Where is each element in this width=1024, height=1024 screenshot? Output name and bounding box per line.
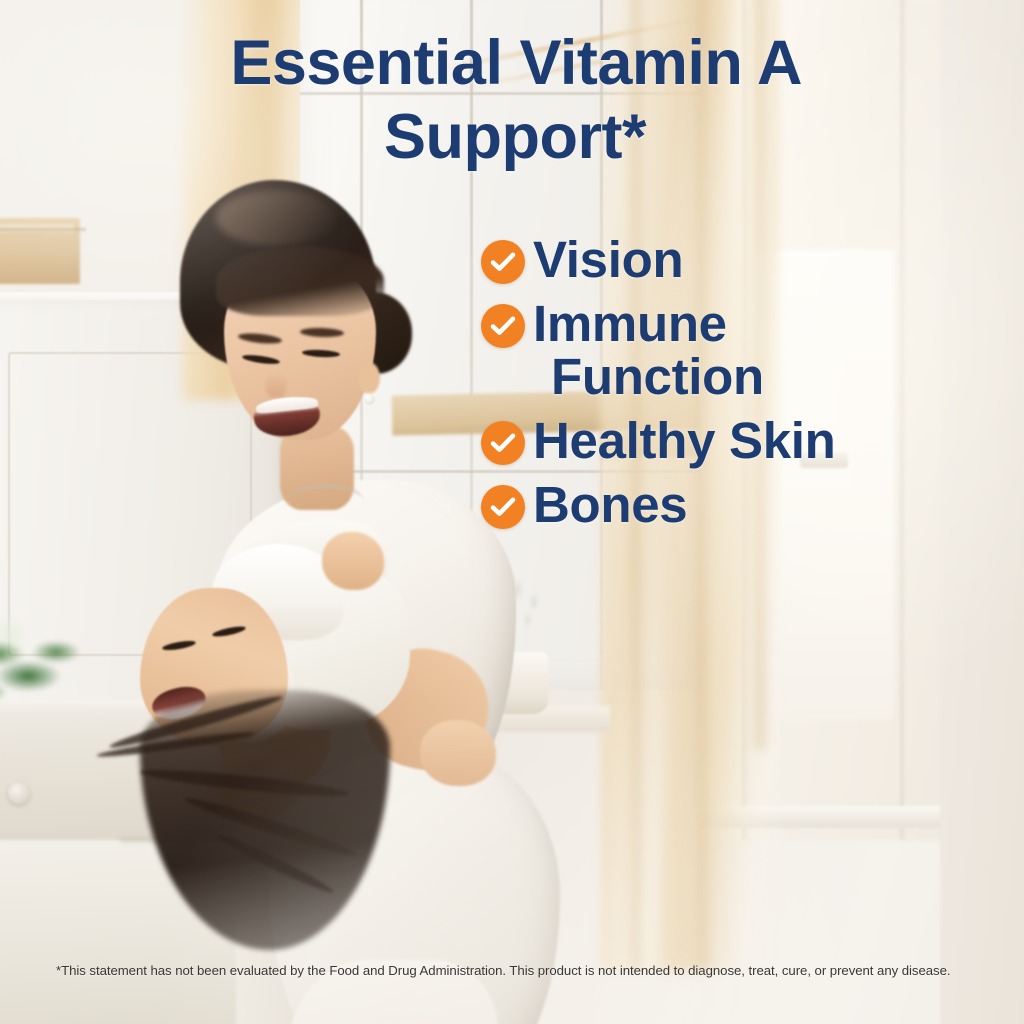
benefit-text: Bones	[533, 476, 687, 533]
benefit-text: Immune	[533, 295, 727, 352]
headline-line-1: Essential Vitamin A	[230, 28, 799, 98]
list-item-vision: Vision	[481, 232, 1011, 286]
check-circle-icon	[481, 421, 525, 465]
benefit-text: Vision	[533, 231, 683, 288]
benefit-label: Vision	[533, 232, 683, 286]
check-circle-icon	[481, 240, 525, 284]
page-title: Essential Vitamin A Support*	[120, 26, 910, 175]
check-circle-icon	[481, 485, 525, 529]
benefit-text-wrap: Function	[533, 350, 764, 403]
list-item-bones: Bones	[481, 477, 1011, 531]
benefit-label: Healthy Skin	[533, 413, 836, 467]
benefits-list: Vision Immune Function	[481, 232, 1011, 531]
fda-disclaimer: *This statement has not been evaluated b…	[56, 962, 976, 979]
check-circle-icon	[481, 304, 525, 348]
benefit-label: Immune Function	[533, 296, 764, 403]
benefit-text: Healthy Skin	[533, 412, 836, 469]
headline-line-2: Support*	[384, 102, 646, 172]
promotional-image: Essential Vitamin A Support* Vision	[0, 0, 1024, 1024]
benefit-label: Bones	[533, 477, 687, 531]
text-overlay: Essential Vitamin A Support* Vision	[0, 0, 1024, 1024]
list-item-healthy-skin: Healthy Skin	[481, 413, 1011, 467]
list-item-immune-function: Immune Function	[481, 296, 1011, 403]
